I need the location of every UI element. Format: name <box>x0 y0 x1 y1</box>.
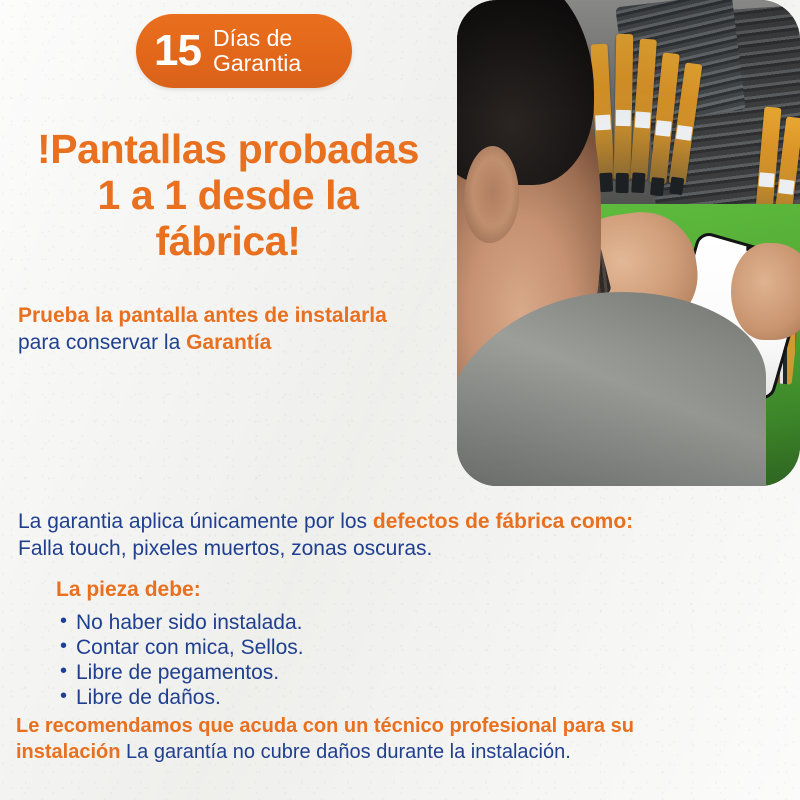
headline-line-1: !Pantallas probadas <box>0 126 456 172</box>
part-conditions-title: La pieza debe: <box>56 576 556 604</box>
headline-line-2: 1 a 1 desde la <box>0 172 456 218</box>
warranty-days-badge: 15 Días de Garantia <box>136 14 352 88</box>
subheading-line-2-plain: para conservar la <box>18 331 180 354</box>
subheading-line-2: para conservar la Garantía <box>18 329 458 357</box>
photo-vignette-overlay <box>457 0 800 486</box>
badge-text-lines: Días de Garantia <box>213 26 301 76</box>
subheading: Prueba la pantalla antes de instalarla p… <box>18 303 458 357</box>
headline-line-3: fábrica! <box>0 218 456 264</box>
coverage-line-1-plain: La garantia aplica únicamente por los <box>18 510 367 533</box>
warranty-poster: 15 Días de Garantia <box>0 0 800 800</box>
subheading-line-1: Prueba la pantalla antes de instalarla <box>18 303 458 329</box>
list-item: Libre de pegamentos. <box>56 660 556 685</box>
badge-days-number: 15 <box>154 29 201 73</box>
page-title: !Pantallas probadas 1 a 1 desde la fábri… <box>0 126 456 264</box>
list-item: Libre de daños. <box>56 685 556 710</box>
recommendation-line-2-emphasis: instalación <box>16 741 120 763</box>
recommendation-line-2: instalación La garantía no cubre daños d… <box>16 739 791 766</box>
warranty-coverage-text: La garantia aplica únicamente por los de… <box>18 508 788 562</box>
installation-recommendation: Le recomendamos que acuda con un técnico… <box>16 713 791 766</box>
part-conditions-block: La pieza debe: No haber sido instalada. … <box>56 576 556 710</box>
badge-label-line2: Garantia <box>213 51 301 76</box>
part-conditions-list: No haber sido instalada. Contar con mica… <box>56 610 556 710</box>
list-item: Contar con mica, Sellos. <box>56 635 556 660</box>
subheading-line-2-emphasis: Garantía <box>186 331 271 354</box>
coverage-line-2: Falla touch, pixeles muertos, zonas oscu… <box>18 535 788 562</box>
coverage-line-1-emphasis: defectos de fábrica como: <box>373 510 633 533</box>
recommendation-line-1: Le recomendamos que acuda con un técnico… <box>16 713 791 739</box>
badge-label-line1: Días de <box>213 26 301 51</box>
coverage-line-1: La garantia aplica únicamente por los de… <box>18 508 788 535</box>
recommendation-line-2-plain: La garantía no cubre daños durante la in… <box>126 741 571 763</box>
list-item: No haber sido instalada. <box>56 610 556 635</box>
technician-testing-screens-photo <box>457 0 800 486</box>
